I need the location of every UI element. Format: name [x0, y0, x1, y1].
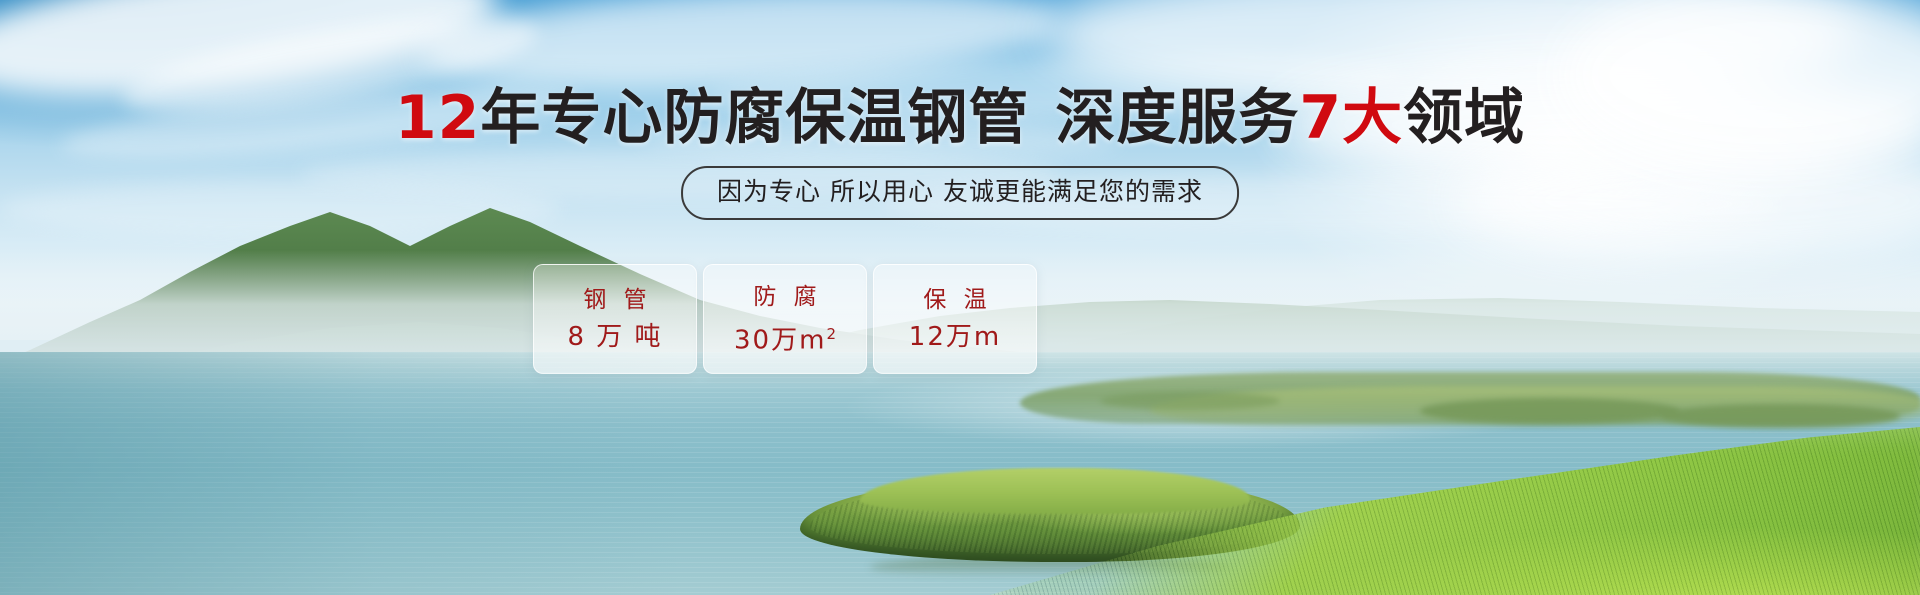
subtitle-pill: 因为专心 所以用心 友诚更能满足您的需求: [681, 166, 1239, 220]
water-shadow-left: [0, 352, 680, 595]
stat-value-base: 8 万 吨: [567, 322, 662, 352]
stat-card-value: 30万m2: [734, 320, 836, 355]
promo-banner: 12年专心防腐保温钢管深度服务7大领域 因为专心 所以用心 友诚更能满足您的需求…: [0, 0, 1920, 595]
stat-card-insulation[interactable]: 保 温 12万m: [873, 264, 1037, 374]
headline-service-text: 深度服务: [1055, 83, 1299, 153]
stat-card-title: 保 温: [918, 287, 991, 313]
reed-patch: [1660, 404, 1900, 428]
island-highlight: [860, 468, 1250, 514]
reed-patch: [1100, 392, 1280, 410]
headline-fields-text: 领域: [1403, 83, 1525, 153]
stat-value-base: 30万m: [734, 325, 826, 355]
stat-card-steel-pipe[interactable]: 钢 管 8 万 吨: [533, 264, 697, 374]
stat-value-base: 12万m: [909, 322, 1001, 352]
stat-card-anticorrosion[interactable]: 防 腐 30万m2: [703, 264, 867, 374]
stat-card-value: 12万m: [909, 323, 1001, 351]
stat-card-value: 8 万 吨: [567, 323, 662, 351]
stat-card-title: 防 腐: [748, 284, 821, 310]
stat-card-title: 钢 管: [578, 287, 651, 313]
stat-value-superscript: 2: [826, 325, 836, 343]
headline-seven-fields: 7大: [1299, 83, 1403, 153]
stat-card-group: 钢 管 8 万 吨 防 腐 30万m2 保 温 12万m: [533, 264, 1037, 374]
headline-years-number: 12: [395, 83, 481, 153]
banner-headline: 12年专心防腐保温钢管深度服务7大领域: [0, 86, 1920, 150]
headline-main-text: 年专心防腐保温钢管: [480, 83, 1029, 153]
reed-patch: [1420, 398, 1680, 424]
